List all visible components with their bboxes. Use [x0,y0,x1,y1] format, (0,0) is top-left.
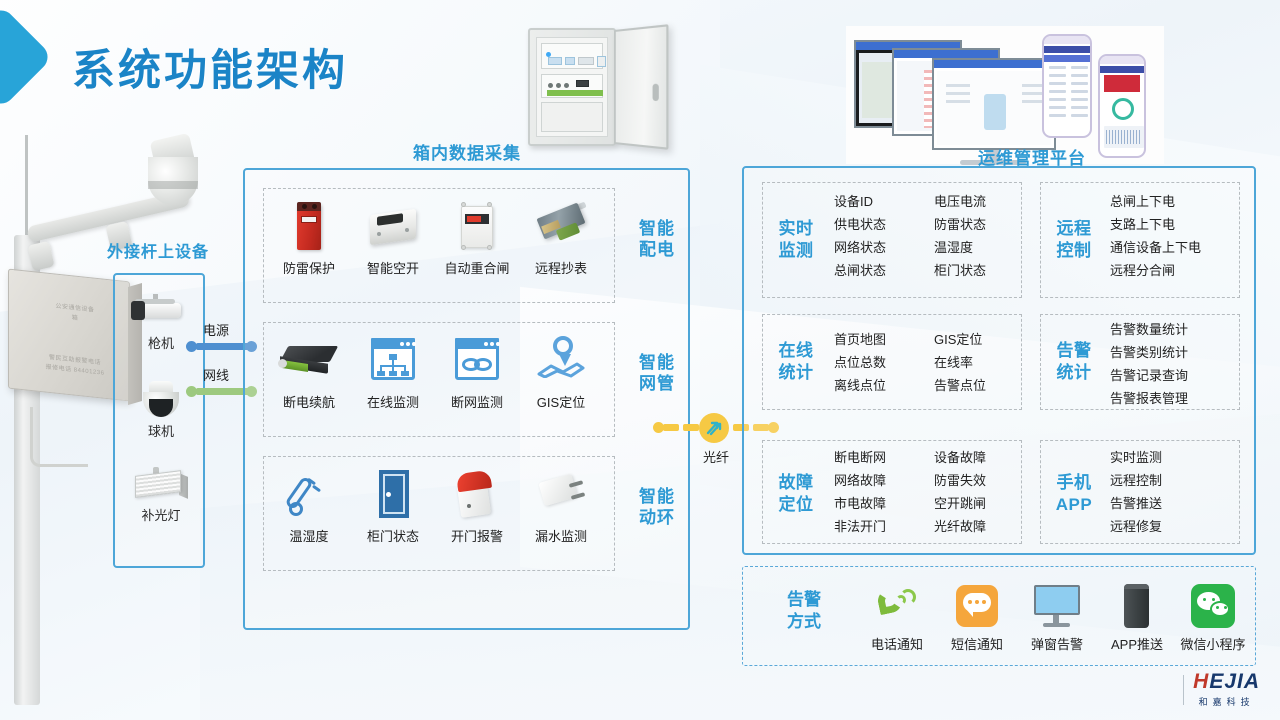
fn-item: 告警记录查询 [1110,364,1188,387]
cabinet-item-label: 温湿度 [267,526,351,545]
realtime-monitor-col-1: 设备ID 供电状态 网络状态 总闸状态 [834,190,886,282]
fn-item: 告警报表管理 [1110,387,1188,410]
auto-recloser-icon [445,198,509,254]
network-line [196,388,250,395]
online-statistics-col-1: 首页地图 点位总数 离线点位 [834,328,886,397]
alert-method-item[interactable]: 短信通知 [939,581,1015,653]
cabinet-item[interactable]: 温湿度 [267,466,351,545]
alert-method-item[interactable]: APP推送 [1099,581,1175,653]
cabinet-item-label: 在线监测 [351,392,435,411]
fn-item: 设备故障 [934,446,986,469]
pole-devices-panel: 枪机 球机 补光灯 [113,273,205,568]
mobile-app-col-1: 实时监测 远程控制 告警推送 远程修复 [1110,446,1162,538]
alert-methods-title: 告警 方式 [773,589,835,633]
fn-item: 远程分合闸 [1110,259,1201,282]
cabinet-item-label: 开门报警 [435,526,519,545]
cabinet-collect-label: 箱内数据采集 [392,139,542,164]
alert-method-label: APP推送 [1099,634,1175,653]
alert-methods-panel: 告警 方式 电话通知 短信通知 [742,566,1256,666]
cabinet-door-icon [361,466,425,522]
alert-method-item[interactable]: 弹窗告警 [1019,581,1095,653]
network-line-label: 网线 [203,365,229,384]
water-leak-sensor-icon [529,466,593,522]
fn-item: 网络故障 [834,469,886,492]
brand-logo: HEJIA 和嘉科技 [1183,671,1260,708]
cabinet-item[interactable]: 断网监测 [435,332,519,411]
dome-ptz-camera-icon [129,379,193,419]
fn-item: 总闸状态 [834,259,886,282]
fn-item: 通信设备上下电 [1110,236,1201,259]
cabinet-item-label: 智能空开 [351,258,435,277]
alert-method-item[interactable]: 微信小程序 [1175,581,1251,653]
ups-battery-icon [277,332,341,388]
online-statistics-title: 在线 统计 [770,340,822,384]
fn-item: 离线点位 [834,374,886,397]
mobile-app-title: 手机 APP [1048,472,1100,516]
remote-control-title: 远程 控制 [1048,218,1100,262]
alert-method-label: 短信通知 [939,634,1015,653]
fn-item: GIS定位 [934,328,986,351]
alert-method-label: 电话通知 [859,634,935,653]
equipment-cabinet-photo [528,28,673,148]
cabinet-item[interactable]: 远程抄表 [519,198,603,277]
online-monitor-icon [361,332,425,388]
remote-control-col-1: 总闸上下电 支路上下电 通信设备上下电 远程分合闸 [1110,190,1201,282]
poster-canvas: 系统功能架构 [0,0,1280,720]
fault-location-title: 故障 定位 [770,472,822,516]
fn-item: 防雷状态 [934,213,986,236]
pole-devices-label: 外接杆上设备 [88,238,228,262]
gis-location-icon [529,332,593,388]
door-alarm-siren-icon [445,466,509,522]
fiber-label: 光纤 [689,447,743,466]
cabinet-item[interactable]: 智能空开 [351,198,435,277]
alert-method-label: 弹窗告警 [1019,634,1095,653]
cabinet-item-label: 自动重合闸 [435,258,519,277]
fn-item: 温湿度 [934,236,986,259]
fn-item: 总闸上下电 [1110,190,1201,213]
fn-item: 网络状态 [834,236,886,259]
fn-item: 首页地图 [834,328,886,351]
smart-environment-title: 智能 动环 [625,486,689,529]
cabinet-item[interactable]: 漏水监测 [519,466,603,545]
alert-method-item[interactable]: 电话通知 [859,581,935,653]
surge-protector-icon [277,198,341,254]
fiber-arrow-glyph [704,418,724,438]
smart-power-title: 智能 配电 [625,218,689,261]
cabinet-item-label: 防雷保护 [267,258,351,277]
fn-item: 告警点位 [934,374,986,397]
fn-item: 断电断网 [834,446,886,469]
fn-item: 远程控制 [1110,469,1162,492]
alert-method-label: 微信小程序 [1175,634,1251,653]
online-statistics-col-2: GIS定位 在线率 告警点位 [934,328,986,397]
fn-item: 支路上下电 [1110,213,1201,236]
fault-location-col-1: 断电断网 网络故障 市电故障 非法开门 [834,446,886,538]
power-line [196,343,250,350]
cabinet-item-label: 远程抄表 [519,258,603,277]
fn-item: 电压电流 [934,190,986,213]
fn-item: 远程修复 [1110,515,1162,538]
cabinet-item-label: 断网监测 [435,392,519,411]
sms-message-icon [950,581,1004,631]
cabinet-item-label: GIS定位 [519,392,603,411]
realtime-monitor-col-2: 电压电流 防雷状态 温湿度 柜门状态 [934,190,986,282]
wechat-icon [1186,581,1240,631]
thermometer-icon [277,466,341,522]
cabinet-item[interactable]: 断电续航 [267,332,351,411]
pole-device-label: 补光灯 [115,505,207,524]
brand-divider [1183,675,1184,705]
cabinet-item-label: 漏水监测 [519,526,603,545]
pole-device-label: 球机 [115,421,207,440]
fn-item: 点位总数 [834,351,886,374]
remote-meter-icon [529,198,593,254]
page-title: 系统功能架构 [72,36,348,98]
bullet-camera-icon [129,291,193,331]
fill-light-icon [129,463,193,503]
fault-location-col-2: 设备故障 防雷失效 空开跳闸 光纤故障 [934,446,986,538]
cabinet-item[interactable]: 在线监测 [351,332,435,411]
cabinet-item-label: 断电续航 [267,392,351,411]
brand-name-accent: H [1193,670,1209,693]
ops-platform-functions-panel: 实时 监测 设备ID 供电状态 网络状态 总闸状态 电压电流 防雷状态 温湿度 … [742,166,1256,555]
fn-item: 实时监测 [1110,446,1162,469]
cabinet-item[interactable]: GIS定位 [519,332,603,411]
cabinet-item-label: 柜门状态 [351,526,435,545]
fn-item: 光纤故障 [934,515,986,538]
fn-item: 市电故障 [834,492,886,515]
fn-item: 供电状态 [834,213,886,236]
fn-item: 空开跳闸 [934,492,986,515]
brand-name: HEJIA [1193,671,1260,692]
cabinet-data-collection-panel: 智能 配电 防雷保护 智能空开 [243,168,690,630]
smart-network-title: 智能 网管 [625,352,689,395]
fn-item: 柜门状态 [934,259,986,282]
fiber-arrows-icon [699,413,729,443]
cabinet-item[interactable]: 开门报警 [435,466,519,545]
fn-item: 非法开门 [834,515,886,538]
alarm-statistics-col-1: 告警数量统计 告警类别统计 告警记录查询 告警报表管理 [1110,318,1188,410]
fn-item: 在线率 [934,351,986,374]
brand-subtitle: 和嘉科技 [1199,695,1255,708]
mobile-app-icon [1110,581,1164,631]
phone-call-icon [870,581,924,631]
fn-item: 告警类别统计 [1110,341,1188,364]
cabinet-item[interactable]: 自动重合闸 [435,198,519,277]
fn-item: 告警数量统计 [1110,318,1188,341]
fn-item: 防雷失效 [934,469,986,492]
pole-device-item[interactable]: 补光灯 [115,463,207,524]
network-break-monitor-icon [445,332,509,388]
power-line-label: 电源 [203,320,229,339]
fn-item: 设备ID [834,190,886,213]
alarm-statistics-title: 告警 统计 [1048,340,1100,384]
smart-breaker-icon [361,198,425,254]
brand-name-rest: EJIA [1209,670,1260,693]
fn-item: 告警推送 [1110,492,1162,515]
realtime-monitor-title: 实时 监测 [770,218,822,262]
desktop-popup-icon [1030,581,1084,631]
map-shape-icon [537,362,585,378]
cabinet-item[interactable]: 柜门状态 [351,466,435,545]
cabinet-item[interactable]: 防雷保护 [267,198,351,277]
